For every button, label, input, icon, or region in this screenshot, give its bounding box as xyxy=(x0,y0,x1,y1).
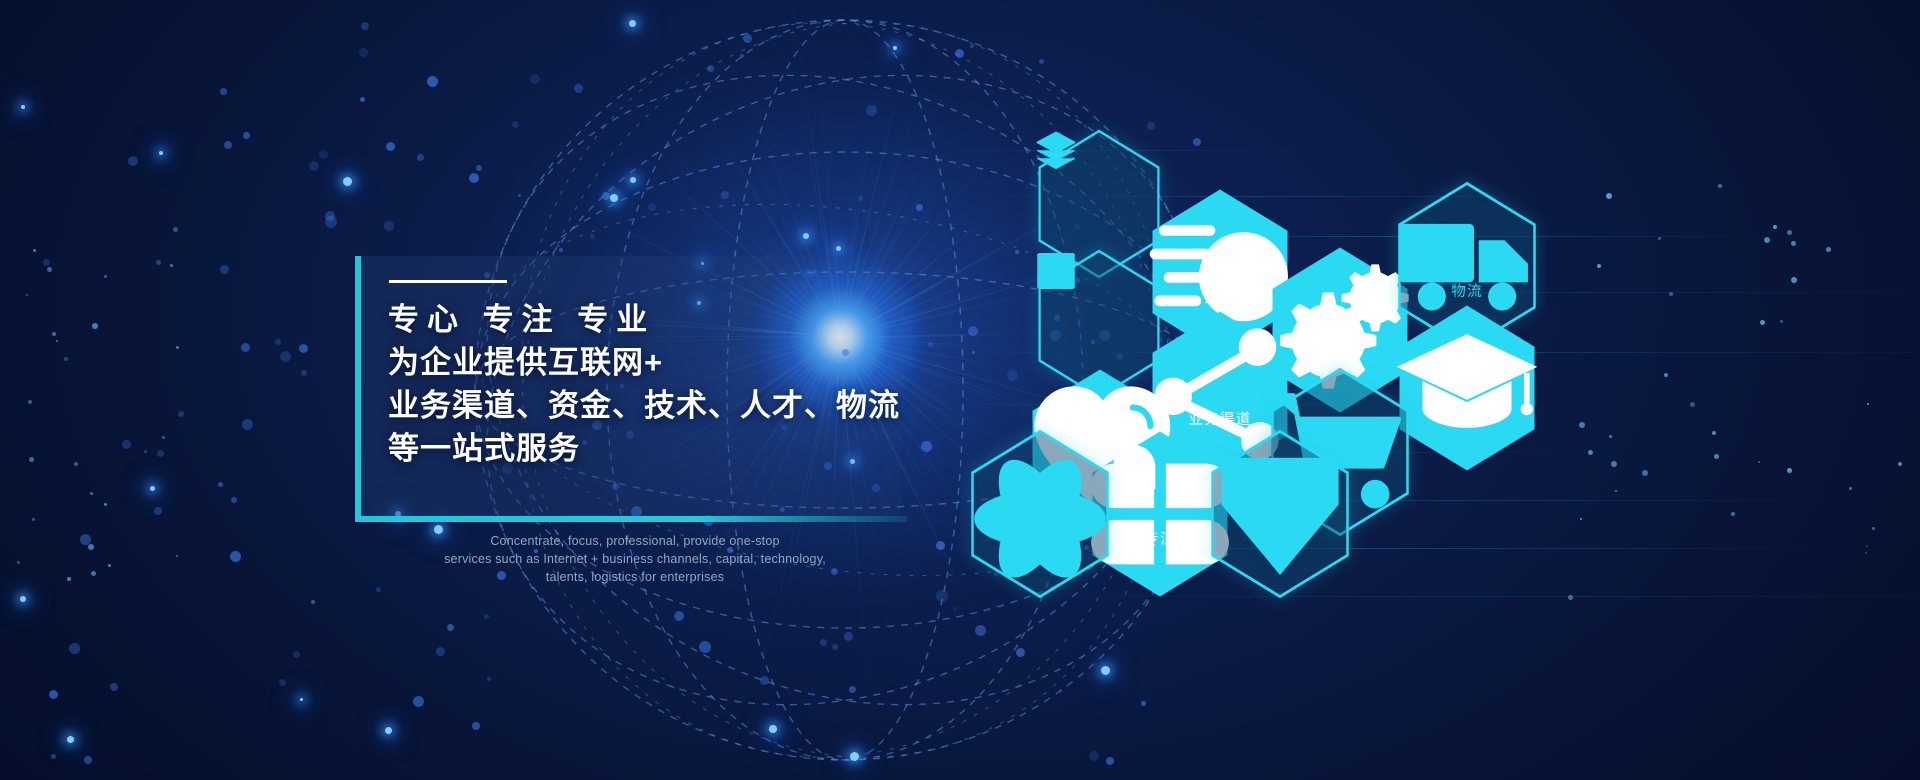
particle-dot xyxy=(301,370,307,376)
particle-dot xyxy=(176,346,179,349)
headline-line-3: 业务渠道、资金、技术、人才、物流 xyxy=(388,384,908,427)
particle-dot xyxy=(1867,403,1869,405)
particle-dot xyxy=(1690,402,1695,407)
particle-dot xyxy=(178,411,184,417)
particle-dot xyxy=(74,462,78,466)
particle-dot xyxy=(128,156,138,166)
particle-dot xyxy=(309,161,319,171)
particle-dot xyxy=(361,22,369,30)
particle-dot xyxy=(144,450,147,453)
headline-line-1: 专心 专注 专业 xyxy=(388,298,908,341)
headline-line-2: 为企业提供互联网+ xyxy=(388,341,908,384)
particle-dot xyxy=(299,344,308,353)
particle-dot xyxy=(1609,435,1612,438)
particle-dot xyxy=(90,492,93,495)
particle-dot xyxy=(33,249,36,252)
particle-dot xyxy=(28,400,32,404)
particle-dot xyxy=(1731,512,1735,516)
caption-line-2: services such as Internet + business cha… xyxy=(355,550,915,568)
particle-dot xyxy=(325,216,337,228)
particle-dot xyxy=(88,544,94,550)
hexagon-talent[interactable]: 人才 xyxy=(1392,302,1542,474)
headline-panel: 专心 专注 专业 为企业提供互联网+ 业务渠道、资金、技术、人才、物流 等一站式… xyxy=(355,256,901,516)
particle-dot xyxy=(241,343,250,352)
particle-dot xyxy=(84,756,92,764)
particle-dot xyxy=(275,339,281,345)
particle-dot xyxy=(1773,225,1777,229)
banner-root: 资金技术物流人才业务渠道e专心专注专业 专心 专注 专业 为企业提供互联网+ 业… xyxy=(0,0,1920,780)
particle-dot xyxy=(1826,247,1831,252)
particle-dot xyxy=(122,440,131,449)
hexagon-tech[interactable]: 技术 xyxy=(1265,244,1415,416)
headline-text: 专心 专注 专业 为企业提供互联网+ 业务渠道、资金、技术、人才、物流 等一站式… xyxy=(388,298,908,470)
particle-dot xyxy=(1597,264,1601,268)
particle-dot xyxy=(64,357,68,361)
particle-dot xyxy=(376,587,381,592)
glow-dot xyxy=(159,151,163,155)
particle-dot xyxy=(386,142,395,151)
particle-dot xyxy=(1787,230,1792,235)
particle-dot xyxy=(279,679,286,686)
particle-dot xyxy=(1712,431,1716,435)
particle-dot xyxy=(1787,468,1792,473)
particle-dot xyxy=(1760,320,1765,325)
particle-dot xyxy=(26,294,28,296)
particle-dot xyxy=(176,555,178,557)
particle-dot xyxy=(1780,320,1783,323)
particle-dot xyxy=(1898,462,1902,466)
particle-dot xyxy=(218,482,223,487)
gears-icon xyxy=(1317,296,1363,342)
headline-rule xyxy=(389,280,507,283)
particle-dot xyxy=(427,76,438,87)
hex-label: 专业 xyxy=(1264,533,1295,548)
particle-dot xyxy=(1791,241,1796,246)
particle-dot xyxy=(413,696,424,707)
particle-dot xyxy=(1579,422,1585,428)
particle-dot xyxy=(173,227,178,232)
particle-dot xyxy=(91,571,96,576)
particle-dot xyxy=(29,457,34,462)
particle-dot xyxy=(319,150,328,159)
svg-text:e: e xyxy=(1335,418,1360,467)
particle-dot xyxy=(1764,237,1770,243)
particle-dot xyxy=(43,259,50,266)
particle-dot xyxy=(157,450,164,457)
particle-dot xyxy=(1664,373,1668,377)
particle-dot xyxy=(1669,292,1673,296)
caption-line-3: talents, logistics for enterprises xyxy=(355,568,915,586)
hex-label: 人才 xyxy=(1451,407,1482,422)
particle-dot xyxy=(67,577,71,581)
glow-dot xyxy=(385,727,392,734)
particle-dot xyxy=(17,561,20,564)
particle-dot xyxy=(47,267,52,272)
particle-dot xyxy=(231,497,237,503)
particle-dot xyxy=(156,260,161,265)
particle-dot xyxy=(32,518,35,521)
particle-dot xyxy=(1580,518,1582,520)
particle-dot xyxy=(162,436,165,439)
glow-dot xyxy=(343,177,352,186)
hex-label: 物流 xyxy=(1451,285,1482,300)
particle-dot xyxy=(170,264,173,267)
particle-dot xyxy=(110,683,118,691)
particle-dot xyxy=(51,754,56,759)
particle-dot xyxy=(1588,450,1593,455)
particle-dot xyxy=(242,419,253,430)
english-caption: Concentrate, focus, professional, provid… xyxy=(355,532,915,586)
particle-dot xyxy=(220,88,227,95)
graduation-cap-icon xyxy=(1444,354,1490,400)
particle-dot xyxy=(447,624,454,631)
particle-dot xyxy=(1714,454,1719,459)
caption-line-1: Concentrate, focus, professional, provid… xyxy=(355,532,915,550)
particle-dot xyxy=(243,132,250,139)
particle-dot xyxy=(1872,527,1875,530)
hexagon-logistics[interactable]: 物流 xyxy=(1392,180,1542,352)
particle-dot xyxy=(1658,237,1661,240)
particle-dot xyxy=(1611,461,1617,467)
particle-dot xyxy=(325,211,335,221)
hexagon-cart[interactable]: e xyxy=(1265,366,1415,538)
particle-dot xyxy=(104,503,107,506)
glow-dot xyxy=(20,596,26,602)
particle-dot xyxy=(1606,193,1612,199)
particle-dot xyxy=(293,651,300,658)
particle-dot xyxy=(224,141,232,149)
particle-dot xyxy=(69,643,80,654)
particle-dot xyxy=(1758,461,1760,463)
diamond-icon xyxy=(1257,480,1303,526)
particle-dot xyxy=(417,154,424,161)
e-cart-icon: e xyxy=(1317,429,1363,475)
particle-dot xyxy=(1615,490,1617,492)
particle-dot xyxy=(56,340,58,342)
particle-dot xyxy=(1866,545,1868,547)
particle-dot xyxy=(359,48,368,57)
particle-dot xyxy=(1865,552,1867,554)
particle-dot xyxy=(384,221,394,231)
glow-dot xyxy=(300,698,303,701)
particle-dot xyxy=(104,275,107,278)
hex-label: 技术 xyxy=(1324,349,1355,364)
particle-dot xyxy=(360,97,365,102)
particle-dot xyxy=(1642,470,1648,476)
particle-dot xyxy=(1718,184,1722,188)
particle-dot xyxy=(1849,487,1852,490)
particle-dot xyxy=(52,332,56,336)
particle-dot xyxy=(280,351,291,362)
truck-icon xyxy=(1444,232,1490,278)
particle-dot xyxy=(311,600,315,604)
glow-dot xyxy=(21,105,25,109)
particle-dot xyxy=(230,551,241,562)
hexagon-pro[interactable]: 专业 xyxy=(1205,428,1355,600)
particle-dot xyxy=(92,323,98,329)
headline-line-4: 等一站式服务 xyxy=(388,427,908,470)
particle-dot xyxy=(80,534,91,545)
particle-dot xyxy=(108,564,111,567)
glow-dot xyxy=(67,736,74,743)
particle-dot xyxy=(1568,595,1573,600)
particle-dot xyxy=(220,265,229,274)
particle-dot xyxy=(1791,277,1797,283)
particle-dot xyxy=(49,690,58,699)
particle-dot xyxy=(154,507,162,515)
glow-dot xyxy=(150,486,155,491)
particle-dot xyxy=(436,647,445,656)
